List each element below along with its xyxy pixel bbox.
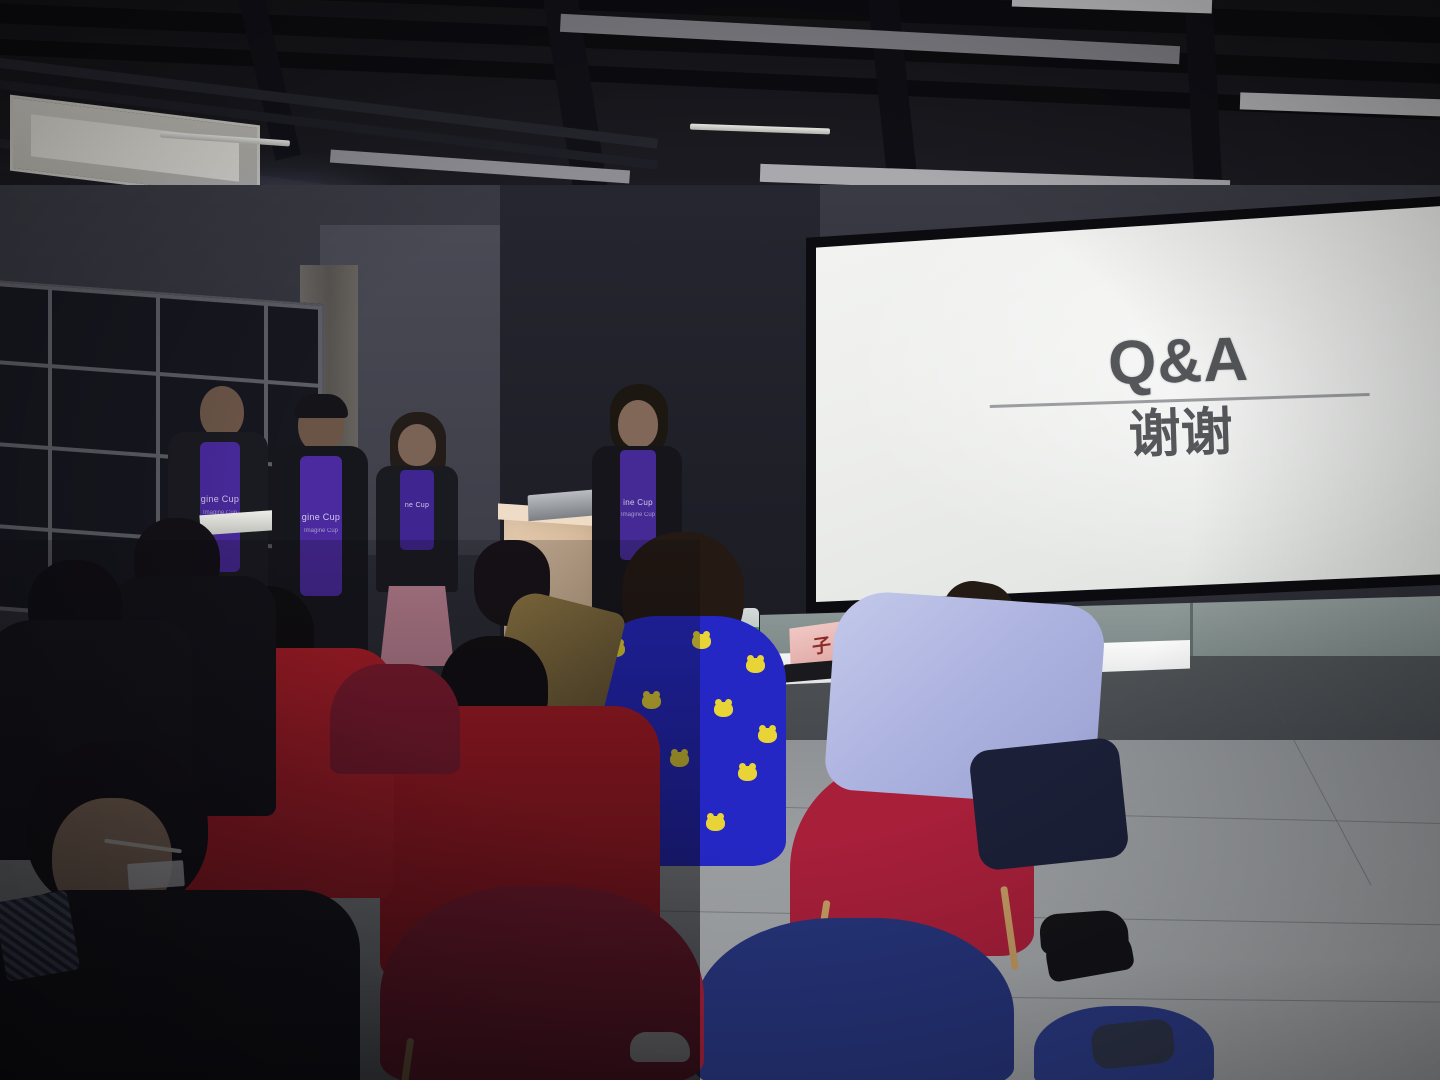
tshirt-logo-sub: Imagine Cup [620, 512, 656, 518]
presenter-tshirt: ne Cup [400, 470, 434, 550]
slide-subtitle: 谢谢 [990, 400, 1372, 469]
slide-content: Q&A 谢谢 [988, 324, 1373, 496]
tshirt-logo-text: ine Cup [620, 498, 656, 507]
tshirt-logo-sub: Imagine Cup [300, 528, 342, 534]
conference-room-photo: Q&A 谢谢 子 佩 gine Cup Imagine Cup [0, 0, 1440, 1080]
chair-red-back [330, 664, 460, 774]
cap-icon [294, 394, 348, 418]
name-badge [127, 860, 185, 890]
tshirt-logo-text: ne Cup [400, 502, 434, 509]
audience-glasses-front [0, 740, 360, 1080]
checkered-shirt [0, 890, 80, 982]
presenter-face [618, 400, 658, 448]
presenter-face [398, 424, 436, 466]
presenter-tshirt: gine Cup Imagine Cup [300, 456, 342, 596]
white-shoe [630, 1032, 690, 1062]
tshirt-logo-text: gine Cup [200, 494, 240, 504]
tshirt-logo-text: gine Cup [300, 512, 342, 522]
bag [1090, 1018, 1176, 1070]
slide-title: Q&A [988, 324, 1370, 399]
trousers [968, 736, 1130, 871]
presenter-head [200, 386, 244, 438]
name-card-char-1: 子 [812, 629, 832, 659]
chair-blue-2 [694, 918, 1014, 1080]
audience-blue-shirt-judge [830, 574, 1130, 874]
